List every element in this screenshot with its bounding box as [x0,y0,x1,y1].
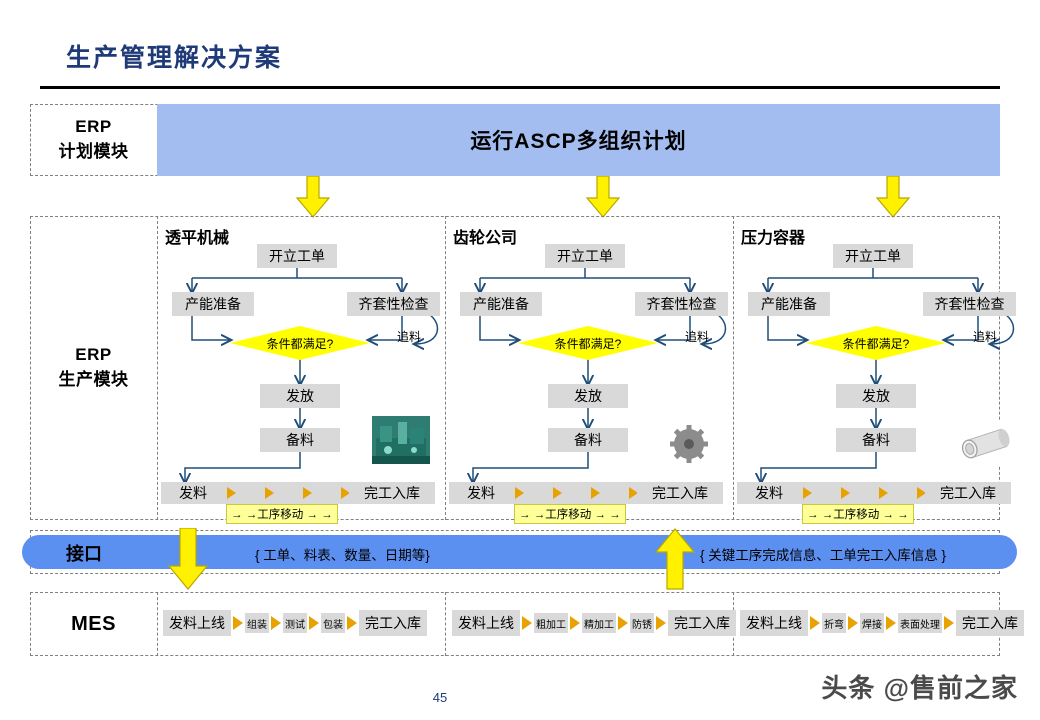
mes-step: 折弯 [822,613,846,633]
chevron-icon [520,613,534,633]
flow-arrow-down-1 [296,176,330,218]
column-title: 齿轮公司 [453,224,517,248]
chevron-icon [269,613,283,633]
step-complete-stockin: 完工入库 [637,482,723,504]
decision-conditions-met: 条件都满足? [806,326,946,360]
step-kitting-check: 齐套性检查 [635,292,728,316]
step-capacity-prep: 产能准备 [748,292,830,316]
operation-move-label: → →工序移动 → → [514,504,626,524]
chevron-icon [877,482,889,504]
production-column-pressure-vessel: 压力容器 开立工单 产能准备 齐套性检查 条件都满足? 追料 发 [733,216,1021,520]
mes-divider-2 [445,592,446,656]
pressure-vessel-photo [955,420,1015,466]
ascp-banner: 运行ASCP多组织计划 [157,104,1000,176]
decision-label: 条件都满足? [843,335,910,352]
mes-step: 粗加工 [534,613,568,633]
page-number: 45 [0,690,880,705]
mes-step: 防锈 [630,613,654,633]
mes-label-text: MES [71,610,116,639]
mes-divider-1 [157,592,158,656]
chevron-icon [839,482,851,504]
chevron-icon [225,482,237,504]
chevron-icon [513,482,525,504]
page-title: 生产管理解决方案 [66,38,282,74]
operation-move-label: → →工序移动 → → [802,504,914,524]
erp-production-label-line2: 生产模块 [59,368,129,393]
chevron-icon [231,613,245,633]
step-material-prep: 备料 [260,428,340,452]
step-capacity-prep: 产能准备 [460,292,542,316]
erp-planning-label-line1: ERP [75,115,111,140]
column-title: 透平机械 [165,224,229,248]
decision-conditions-met: 条件都满足? [518,326,658,360]
chevron-icon [808,613,822,633]
mes-label: MES [30,592,157,656]
ascp-banner-text: 运行ASCP多组织计划 [470,125,686,155]
mes-step: 测试 [283,613,307,633]
mes-start: 发料上线 [740,610,808,636]
chevron-icon [589,482,601,504]
mes-line-pressure-vessel: 发料上线 折弯 焊接 表面处理 完工入库 [740,610,1024,636]
chevron-icon [345,613,359,633]
mes-start: 发料上线 [163,610,231,636]
step-capacity-prep: 产能准备 [172,292,254,316]
mes-line-turbine: 发料上线 组装 测试 包装 完工入库 [163,610,427,636]
step-kitting-check: 齐套性检查 [923,292,1016,316]
step-issue-material: 发料 [449,482,513,504]
operation-chevrons [225,482,351,504]
mes-end: 完工入库 [956,610,1024,636]
operation-chevrons [801,482,927,504]
step-release: 发放 [260,384,340,408]
mes-end: 完工入库 [359,610,427,636]
step-material-prep: 备料 [548,428,628,452]
flow-arrow-down-2 [586,176,620,218]
step-create-workorder: 开立工单 [833,244,913,268]
step-complete-stockin: 完工入库 [925,482,1011,504]
mes-step: 精加工 [582,613,616,633]
interface-arrow-down [168,528,208,590]
chevron-icon [654,613,668,633]
chevron-icon [942,613,956,633]
step-material-prep: 备料 [836,428,916,452]
loop-label-chase-material: 追料 [397,328,421,345]
production-column-turbine: 透平机械 开立工单 产能准备 [157,216,445,520]
flow-arrow-down-3 [876,176,910,218]
production-column-gear: 齿轮公司 开立工单 产能准备 齐套性检查 条件都满足? 追料 发 [445,216,733,520]
interface-down-text: { 工单、料表、数量、日期等} [255,544,430,564]
mes-step: 表面处理 [898,613,942,633]
erp-production-label-line1: ERP [75,343,111,368]
decision-conditions-met: 条件都满足? [230,326,370,360]
column-title: 压力容器 [741,224,805,248]
decision-label: 条件都满足? [555,335,622,352]
mes-step: 包装 [321,613,345,633]
operation-move-label: → →工序移动 → → [226,504,338,524]
step-create-workorder: 开立工单 [545,244,625,268]
loop-label-chase-material: 追料 [973,328,997,345]
chevron-icon [801,482,813,504]
operation-chevrons [513,482,639,504]
mes-end: 完工入库 [668,610,736,636]
step-release: 发放 [548,384,628,408]
erp-planning-label-line2: 计划模块 [59,140,129,165]
interface-up-text: { 关键工序完成信息、工单完工入库信息 } [700,544,946,564]
chevron-icon [301,482,313,504]
chevron-icon [846,613,860,633]
chevron-icon [263,482,275,504]
interface-arrow-up [655,528,695,590]
step-complete-stockin: 完工入库 [349,482,435,504]
chevron-icon [307,613,321,633]
decision-label: 条件都满足? [267,335,334,352]
erp-planning-label: ERP 计划模块 [30,104,157,176]
slide-canvas: 生产管理解决方案 ERP 计划模块 运行ASCP多组织计划 ERP 生产模块 透… [0,0,1040,720]
step-issue-material: 发料 [161,482,225,504]
mes-line-gear: 发料上线 粗加工 精加工 防锈 完工入库 [452,610,736,636]
mes-step: 组装 [245,613,269,633]
loop-label-chase-material: 追料 [685,328,709,345]
gear-photo [663,420,715,466]
turbine-machine-photo [372,416,430,464]
erp-production-label: ERP 生产模块 [30,216,157,520]
mes-start: 发料上线 [452,610,520,636]
step-release: 发放 [836,384,916,408]
chevron-icon [551,482,563,504]
title-divider [40,86,1000,89]
step-issue-material: 发料 [737,482,801,504]
chevron-icon [616,613,630,633]
watermark: 头条 @售前之家 [821,668,1018,705]
mes-step: 焊接 [860,613,884,633]
chevron-icon [884,613,898,633]
interface-label: 接口 [66,540,102,566]
step-create-workorder: 开立工单 [257,244,337,268]
step-kitting-check: 齐套性检查 [347,292,440,316]
chevron-icon [568,613,582,633]
